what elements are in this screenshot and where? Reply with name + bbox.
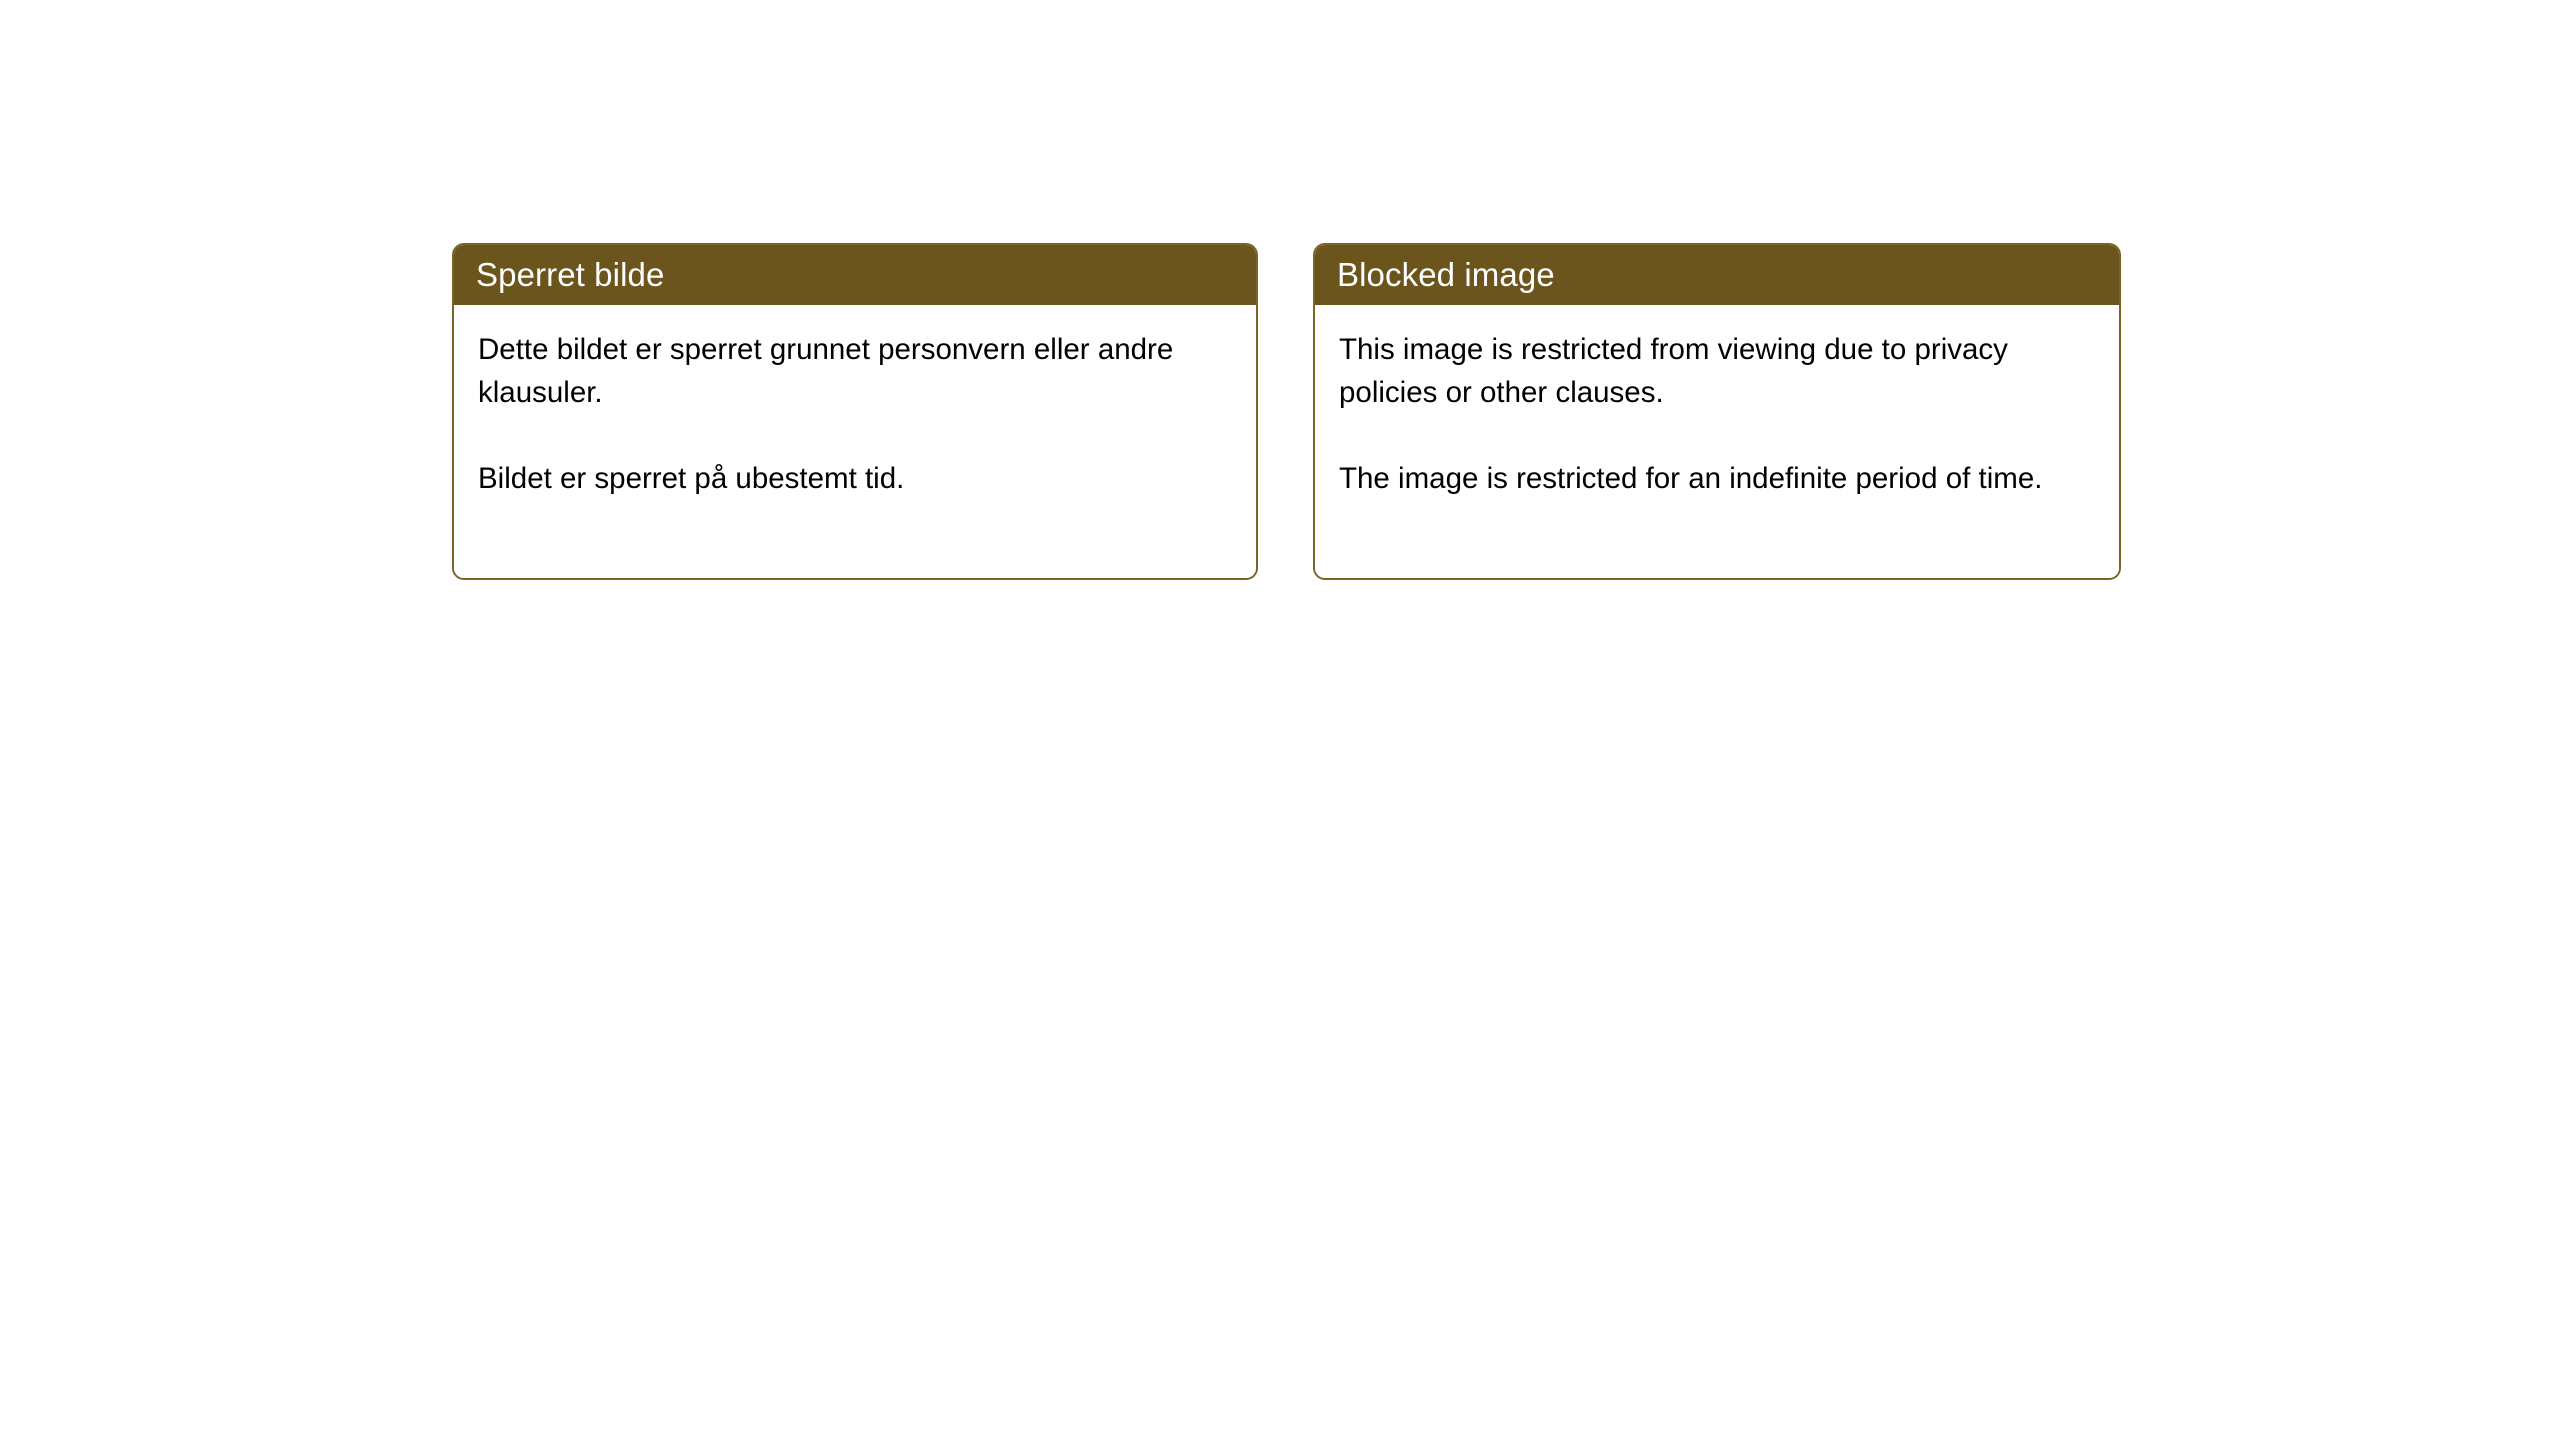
- card-paragraph-secondary-english: The image is restricted for an indefinit…: [1339, 457, 2093, 500]
- card-title-english: Blocked image: [1337, 258, 1555, 291]
- paragraph-spacer: [1339, 414, 2093, 457]
- paragraph-spacer: [478, 414, 1230, 457]
- card-body-english: This image is restricted from viewing du…: [1315, 305, 2119, 576]
- blocked-image-notice-card-norwegian: Sperret bilde Dette bildet er sperret gr…: [452, 243, 1258, 580]
- card-header-norwegian: Sperret bilde: [452, 243, 1258, 305]
- card-header-english: Blocked image: [1313, 243, 2121, 305]
- card-paragraph-primary-norwegian: Dette bildet er sperret grunnet personve…: [478, 328, 1230, 414]
- card-title-norwegian: Sperret bilde: [476, 258, 664, 291]
- card-paragraph-primary-english: This image is restricted from viewing du…: [1339, 328, 2093, 414]
- page-canvas: Sperret bilde Dette bildet er sperret gr…: [0, 0, 2560, 1440]
- card-paragraph-secondary-norwegian: Bildet er sperret på ubestemt tid.: [478, 457, 1230, 500]
- blocked-image-notice-card-english: Blocked image This image is restricted f…: [1313, 243, 2121, 580]
- card-body-norwegian: Dette bildet er sperret grunnet personve…: [454, 305, 1256, 576]
